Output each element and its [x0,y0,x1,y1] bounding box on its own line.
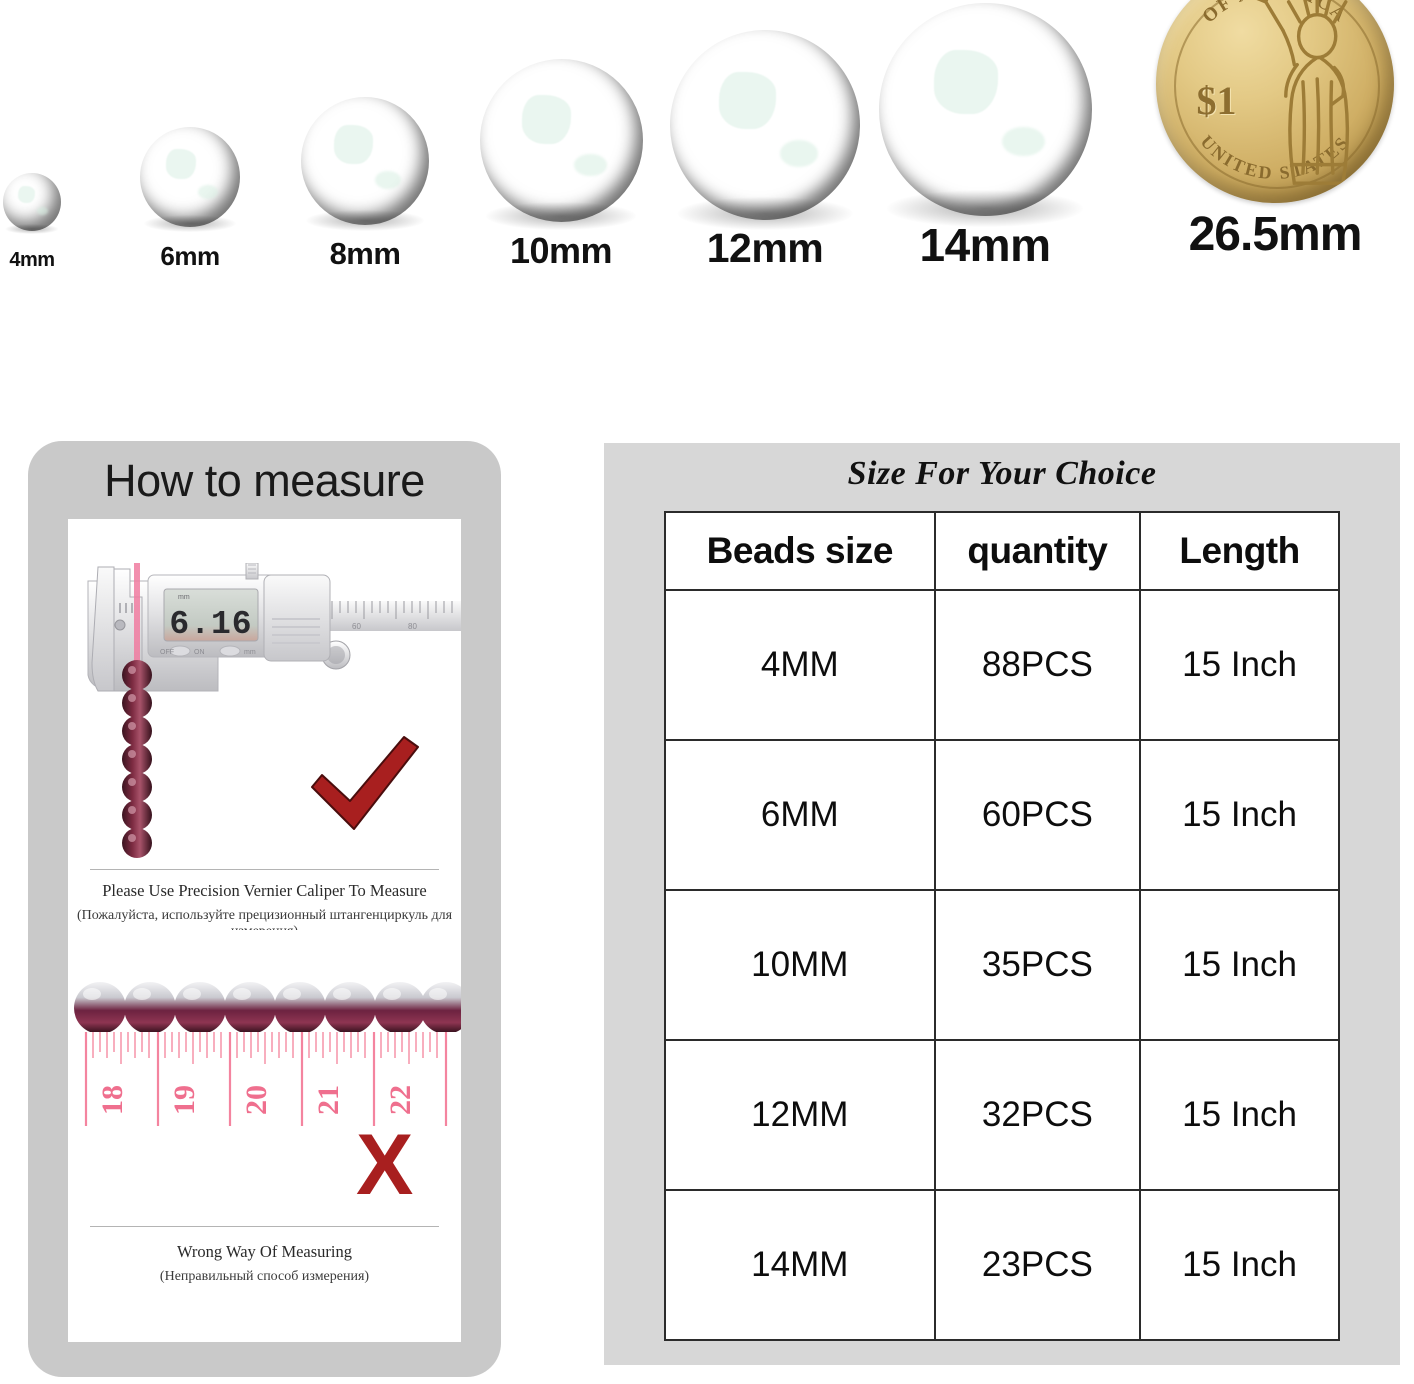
coin-size-label: 26.5mm [1156,207,1394,262]
cell-size: 10MM [665,890,935,1040]
how-to-measure-title: How to measure [28,455,501,507]
svg-text:mm: mm [244,649,256,656]
bead-sample-14mm: 14mm [879,3,1092,272]
bead-sphere [879,3,1092,216]
svg-text:ON: ON [194,649,205,656]
tape-tick-20: 20 [240,1085,273,1115]
bead-size-label: 6mm [140,241,240,272]
bead-strand-on-tape [74,982,461,1034]
table-row: 6MM60PCS15 Inch [665,740,1339,890]
wrong-caption-ru: (Неправильный способ измерения) [68,1269,461,1285]
wrong-method-card: 18 19 20 21 22 X Wrong Way Of Measuring … [68,930,461,1342]
cell-size: 12MM [665,1040,935,1190]
table-row: 4MM88PCS15 Inch [665,590,1339,740]
tape-tick-18: 18 [96,1085,129,1115]
table-row: 10MM35PCS15 Inch [665,890,1339,1040]
bead-sample-4mm: 4mm [3,173,61,272]
cell-size: 4MM [665,590,935,740]
tape-tick-19: 19 [168,1085,201,1115]
size-table: Beads size quantity Length 4MM88PCS15 In… [664,511,1340,1341]
svg-text:OFF: OFF [160,649,174,656]
coin-denomination: $1 [1196,77,1236,124]
correct-method-card: 0 60 80 mm 6.16 [68,519,461,959]
x-mark-icon: X [356,1122,413,1208]
cell-quantity: 88PCS [935,590,1141,740]
cell-size: 14MM [665,1190,935,1340]
bead-sample-6mm: 6mm [140,127,240,272]
bead-sphere [301,97,429,225]
bead-size-label: 4mm [3,249,61,272]
tape-tick-22: 22 [384,1085,417,1115]
header-quantity: quantity [935,512,1141,590]
cell-size: 6MM [665,740,935,890]
correct-caption-en: Please Use Precision Vernier Caliper To … [68,881,461,901]
caliper-photo: 0 60 80 mm 6.16 [68,563,461,863]
bead-sphere [670,30,860,220]
cell-quantity: 32PCS [935,1040,1141,1190]
cell-length: 15 Inch [1140,740,1339,890]
statue-of-liberty-icon [1232,0,1380,193]
cell-length: 15 Inch [1140,1040,1339,1190]
svg-text:80: 80 [408,622,417,631]
bead-size-label: 8mm [301,236,429,272]
checkmark-icon [306,735,422,835]
cell-length: 15 Inch [1140,1190,1339,1340]
how-to-measure-panel: How to measure [28,441,501,1377]
size-table-panel: Size For Your Choice Beads size quantity… [604,443,1400,1365]
svg-text:mm: mm [178,594,190,601]
header-length: Length [1140,512,1339,590]
table-row: 12MM32PCS15 Inch [665,1040,1339,1190]
cell-quantity: 35PCS [935,890,1141,1040]
bead-sample-12mm: 12mm [670,30,860,272]
size-table-caption: Size For Your Choice [604,455,1400,493]
card-divider [90,869,439,870]
bead-size-label: 12mm [670,225,860,272]
cell-quantity: 60PCS [935,740,1141,890]
table-row: 14MM23PCS15 Inch [665,1190,1339,1340]
coin-sample: OF AMERICAUNITED STATES$126.5mm [1156,0,1394,262]
bead-sphere [480,59,643,222]
svg-text:60: 60 [352,622,361,631]
caliper-reading: 6.16 [169,606,252,643]
wrong-caption-en: Wrong Way Of Measuring [68,1242,461,1262]
cell-length: 15 Inch [1140,890,1339,1040]
bead-sample-8mm: 8mm [301,97,429,272]
cell-length: 15 Inch [1140,590,1339,740]
bead-size-comparison-strip: 4mm6mm8mm10mm12mm14mmOF AMERICAUNITED ST… [0,0,1414,350]
bead-sphere [140,127,240,227]
card-divider [90,1226,439,1227]
header-beads-size: Beads size [665,512,935,590]
table-header-row: Beads size quantity Length [665,512,1339,590]
bead-size-label: 10mm [480,230,643,272]
cell-quantity: 23PCS [935,1190,1141,1340]
tape-tick-21: 21 [312,1085,345,1115]
us-dollar-coin-icon: OF AMERICAUNITED STATES$1 [1156,0,1394,203]
bead-sample-10mm: 10mm [480,59,643,272]
bead-sphere [3,173,61,231]
